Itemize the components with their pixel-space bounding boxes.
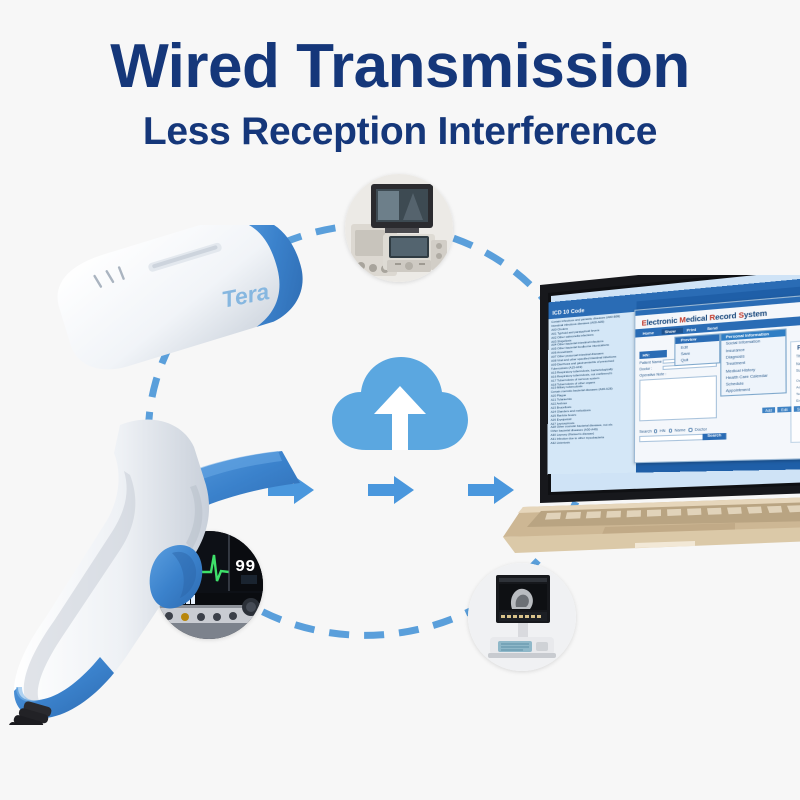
- cloud-upload-icon: [330, 352, 470, 465]
- info-key: Title: [796, 354, 800, 359]
- field-telephone: Telephone number :: [796, 391, 800, 396]
- radio-doctor-label: Doctor: [695, 427, 707, 432]
- menu-item-home[interactable]: Home: [640, 329, 662, 336]
- personal-info-grid: Title Gender Name Nation Surname Country: [791, 353, 800, 373]
- radio-name-label: Name: [675, 428, 686, 433]
- menu-item-send[interactable]: Send: [704, 324, 726, 331]
- edit-button[interactable]: Edit: [778, 407, 792, 413]
- info-row: Name Nation: [796, 361, 800, 366]
- search-label: Search: [639, 429, 652, 434]
- menu-item-show[interactable]: Show: [661, 327, 683, 334]
- barcode-scanner-product: Tera: [0, 225, 340, 725]
- search-button[interactable]: Search: [703, 433, 726, 440]
- icd-code-panel: ICD 10 Code Certain infectious and paras…: [547, 301, 636, 474]
- personal-information-panel: Personal Information Title Gender Name N…: [790, 340, 800, 443]
- add-button[interactable]: Add: [762, 407, 776, 413]
- save-button[interactable]: Save: [794, 406, 800, 412]
- info-key: Surname: [796, 368, 800, 373]
- hn-label: HN:: [639, 350, 666, 359]
- photo-portable-ultrasound: [468, 563, 576, 671]
- field-email: Email Address :: [796, 398, 800, 403]
- search-input-row: Search: [639, 433, 726, 442]
- page-title: Wired Transmission: [0, 36, 800, 98]
- photo-ultrasound-machine: [345, 174, 453, 282]
- emr-application-screen: ICD 10 Code Certain infectious and paras…: [547, 277, 800, 474]
- patient-name-label: Patient Name :: [639, 359, 662, 365]
- info-key: Name: [796, 361, 800, 366]
- emr-main-window: Electronic Medical Record System Home Sh…: [634, 294, 800, 463]
- operative-note-textarea[interactable]: [639, 375, 717, 421]
- show-dropdown-menu[interactable]: Preview Edit Save Quit: [674, 333, 720, 365]
- radio-name[interactable]: [669, 429, 673, 433]
- headline-block: Wired Transmission Less Reception Interf…: [0, 36, 800, 151]
- personal-info-fields: Occupation : Address : Telephone number …: [791, 375, 800, 403]
- preview-submenu[interactable]: Personal Information Social Information …: [720, 328, 786, 396]
- personal-info-title: Personal Information: [791, 341, 800, 355]
- menu-item-print[interactable]: Print: [683, 326, 704, 333]
- address-label: Address :: [796, 384, 800, 389]
- info-cell: Name: [796, 361, 800, 366]
- occupation-label: Occupation :: [796, 377, 800, 383]
- telephone-label: Telephone number :: [796, 390, 800, 396]
- radio-hn[interactable]: [654, 429, 658, 433]
- field-address: Address :: [796, 384, 800, 389]
- doctor-label: Doctor :: [639, 366, 662, 372]
- info-cell: Title: [796, 354, 800, 359]
- radio-hn-label: HN: [660, 429, 666, 433]
- info-row: Surname Country: [796, 368, 800, 373]
- page-subtitle: Less Reception Interference: [0, 112, 800, 151]
- dropdown-item-quit[interactable]: Quit: [675, 355, 719, 365]
- email-label: Email Address :: [796, 397, 800, 403]
- operative-note-label: Operative Note :: [639, 372, 662, 378]
- info-cell: Surname: [796, 368, 800, 373]
- radio-doctor[interactable]: [689, 428, 693, 432]
- info-row: Title Gender: [796, 353, 800, 358]
- icd-code-list[interactable]: Certain infectious and parasitic disease…: [548, 312, 637, 446]
- field-occupation: Occupation :: [796, 377, 800, 382]
- personal-info-buttons: Add Edit Save: [791, 405, 800, 413]
- search-panel: Search HN Name Doctor Search: [639, 427, 726, 442]
